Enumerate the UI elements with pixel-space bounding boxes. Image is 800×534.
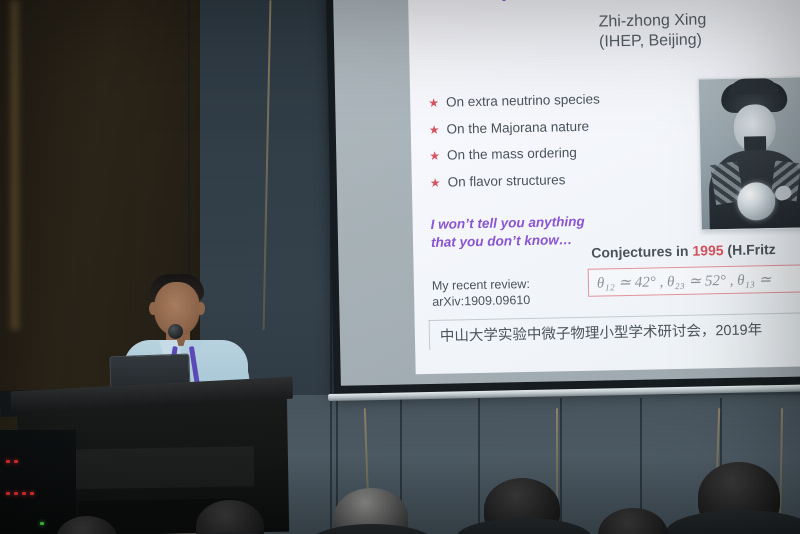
status-led — [14, 492, 18, 495]
wall-seam — [560, 398, 562, 534]
av-rack — [0, 430, 76, 534]
status-led — [22, 492, 26, 495]
speaker-ear-left — [149, 302, 157, 315]
status-led — [40, 522, 44, 525]
bullet-label: On flavor structures — [447, 173, 565, 189]
author-name: Zhi-zhong Xing — [598, 10, 706, 33]
speaker-ear-right — [197, 302, 205, 315]
disclaimer-note: I won’t tell you anything that you don’t… — [431, 213, 586, 252]
slide-author: Zhi-zhong Xing (IHEP, Beijing) — [598, 10, 706, 53]
fortune-teller-image — [698, 76, 800, 230]
microphone-icon — [168, 324, 183, 339]
bullet-label: On extra neutrino species — [446, 93, 600, 110]
conference-photo: A few open questions Zhi-zhong Xing (IHE… — [0, 0, 800, 534]
conjectures-prefix: Conjectures in — [591, 243, 692, 261]
wall-seam — [478, 398, 480, 534]
podium-front-panel — [54, 446, 255, 489]
turban-top-shape — [729, 78, 779, 95]
author-affiliation: (IHEP, Beijing) — [599, 31, 707, 54]
bullet-label: On the mass ordering — [447, 146, 577, 162]
conjectures-year: 1995 — [692, 242, 723, 259]
slide-title: A few open questions — [422, 0, 653, 4]
review-label: My recent review: — [432, 276, 530, 294]
star-icon: ★ — [429, 123, 440, 135]
disclaimer-line-2: that you don’t know… — [431, 231, 585, 252]
status-led — [14, 460, 18, 463]
wall-light-reflection — [8, 0, 22, 330]
bullet-label: On the Majorana nature — [446, 119, 589, 135]
list-item: ★ On flavor structures — [430, 172, 602, 189]
arxiv-id: arXiv:1909.09610 — [432, 292, 530, 310]
review-reference: My recent review: arXiv:1909.09610 — [432, 276, 531, 310]
slide-footer-chinese: 中山大学实验中微子物理小型学术研讨会，2019年 — [429, 312, 800, 350]
star-icon: ★ — [429, 150, 440, 162]
status-led — [6, 492, 10, 495]
star-icon: ★ — [428, 97, 439, 109]
mixing-angles-formula: θ₁₂ ≃ 42° , θ₂₃ ≃ 52° , θ₁₃ ≃ — [588, 264, 800, 297]
list-item: ★ On extra neutrino species — [428, 93, 600, 110]
list-item: ★ On the Majorana nature — [429, 119, 601, 136]
conjectures-citation: (H.Fritz — [723, 241, 775, 258]
star-icon: ★ — [430, 176, 441, 188]
status-led — [6, 460, 10, 463]
presentation-slide: A few open questions Zhi-zhong Xing (IHE… — [408, 0, 800, 374]
bullet-list: ★ On extra neutrino species ★ On the Maj… — [428, 93, 602, 202]
status-led — [30, 492, 34, 495]
list-item: ★ On the mass ordering — [429, 146, 601, 163]
projection-screen: A few open questions Zhi-zhong Xing (IHE… — [326, 0, 800, 412]
conjectures-heading: Conjectures in 1995 (H.Fritz — [591, 241, 776, 261]
